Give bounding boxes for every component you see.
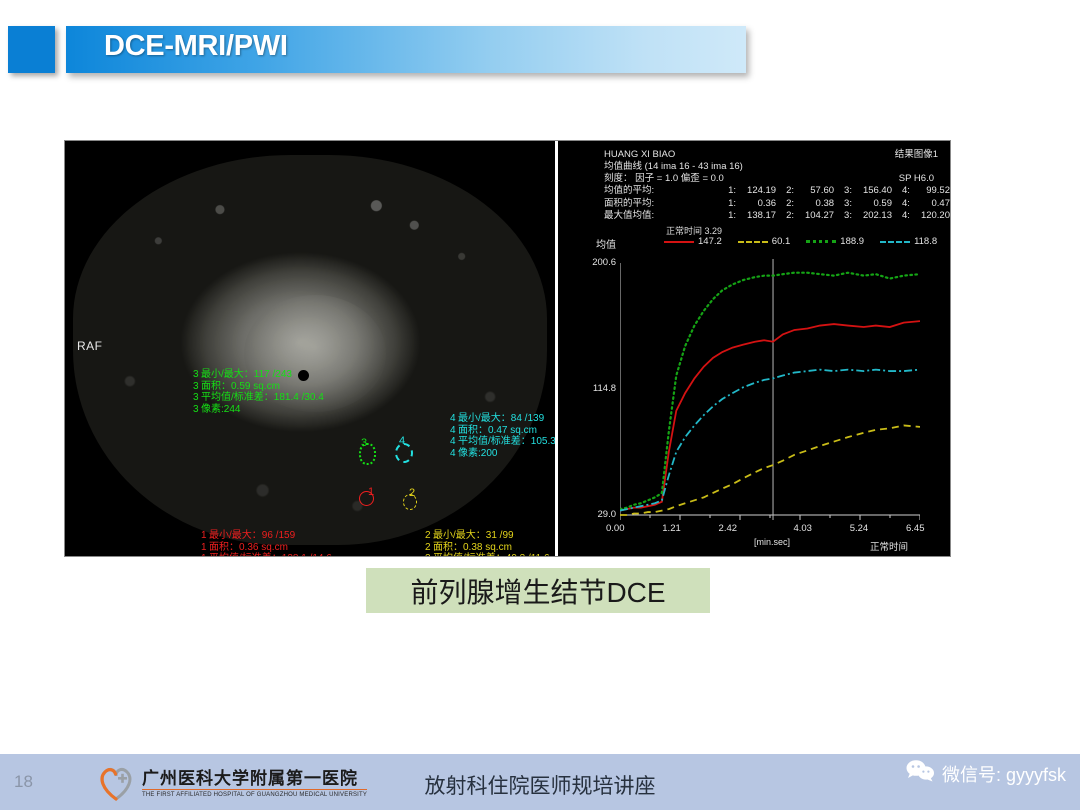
roi-stats-2-minmax: 31 /99 (486, 530, 514, 541)
row-label-mean-of-areas: 面积的平均: (604, 198, 718, 211)
row1-key-1: 1: (718, 198, 736, 211)
roi-stats-3-idx-c: 3 (193, 392, 201, 404)
roi-marker-4: 4 (399, 435, 405, 447)
row1-key-2: 2: (776, 198, 794, 211)
roi-stats-4-pixel-label: 像素: (458, 448, 481, 459)
patient-name: HUANG XI BIAO (604, 149, 675, 161)
roi-stats-1-idx-c: 1 (201, 553, 209, 556)
legend-swatch-red (664, 241, 694, 243)
roi-stats-3-area: 0.59 sq.cm (231, 381, 280, 392)
roi-stats-4: 4最小/最大：84 /139 4面积：0.47 sq.cm 4平均值/标准差：1… (450, 413, 555, 459)
roi-stats-4-minmax: 84 /139 (511, 413, 544, 424)
wechat-id: 微信号: gyyyfsk (942, 761, 1066, 787)
roi-outline-3 (359, 443, 376, 465)
roi-stats-4-idx-a: 4 (450, 413, 458, 425)
curve-svg (620, 259, 920, 525)
row1-key-3: 3: (834, 198, 852, 211)
roi-stats-2-mean-label: 平均值/标准差： (433, 553, 506, 556)
orientation-label: RAF (77, 339, 103, 353)
wechat-info: 微信号: gyyyfsk (905, 758, 1066, 789)
row-label-mean-of-means: 均值的平均: (604, 185, 718, 198)
roi-stats-1-idx-b: 1 (201, 542, 209, 554)
x-tick-1: 1.21 (662, 523, 681, 534)
roi-stats-3: 3最小/最大：117 /243 3面积：0.59 sq.cm 3平均值/标准差：… (193, 369, 324, 415)
row2-val-1: 138.17 (736, 210, 776, 223)
roi-stats-3-minmax: 117 /243 (254, 369, 292, 380)
roi-stats-3-area-label: 面积： (201, 381, 231, 392)
roi-stats-2-idx-a: 2 (425, 530, 433, 542)
roi-marker-2: 2 (409, 487, 415, 499)
roi-stats-2-area-label: 面积： (433, 542, 463, 553)
roi-stats-3-mean-label: 平均值/标准差： (201, 392, 274, 403)
roi-stats-1: 1最小/最大：96 /159 1面积：0.36 sq.cm 1平均值/标准差：1… (201, 530, 332, 556)
roi-stats-3-pixel: 244 (224, 404, 241, 415)
table-row: 最大值均值: 1: 138.17 2: 104.27 3: 202.13 4: … (604, 210, 950, 223)
row0-key-2: 2: (776, 185, 794, 198)
roi-stats-4-idx-c: 4 (450, 436, 458, 448)
row2-key-4: 4: (892, 210, 910, 223)
roi-stats-1-minmax: 96 /159 (262, 530, 295, 541)
roi-stats-4-idx-d: 4 (450, 448, 458, 460)
table-row: 均值的平均: 1: 124.19 2: 57.60 3: 156.40 4: 9… (604, 185, 950, 198)
row1-val-4: 0.47 (910, 198, 950, 211)
roi-stats-2-area: 0.38 sq.cm (463, 542, 512, 553)
footer-bar: 18 广州医科大学附属第一医院 THE FIRST AFFILIATED HOS… (0, 752, 1080, 810)
row0-val-3: 156.40 (852, 185, 892, 198)
roi-stats-4-pixel: 200 (481, 448, 498, 459)
legend-label-2: 60.1 (772, 236, 791, 247)
roi-stats-2: 2最小/最大：31 /99 2面积：0.38 sq.cm 2平均值/标准差：49… (425, 530, 550, 556)
y-tick-0: 200.6 (580, 257, 616, 268)
scale-factors: 刻度： 因子 = 1.0 偏歪 = 0.0 (604, 173, 724, 185)
legend-item-4: 118.8 (880, 236, 937, 247)
statistics-table: 均值的平均: 1: 124.19 2: 57.60 3: 156.40 4: 9… (604, 185, 950, 223)
row0-key-3: 3: (834, 185, 852, 198)
legend-swatch-cyan (880, 241, 910, 243)
chart-legend: 147.2 60.1 188.9 118.8 (664, 236, 937, 247)
roi-stats-1-idx-a: 1 (201, 530, 209, 542)
y-axis-label: 均值 (596, 236, 616, 251)
roi-marker-1: 1 (368, 486, 374, 498)
figure-caption: 前列腺增生结节DCE (366, 568, 710, 613)
roi-stats-2-idx-b: 2 (425, 542, 433, 554)
roi-stats-1-minmax-label: 最小/最大： (209, 530, 262, 541)
figure-dce-mri: RAF 3 4 1 2 3最小/最大：117 /243 3面积：0.59 (64, 140, 951, 557)
roi-stats-2-idx-c: 2 (425, 553, 433, 556)
legend-item-3: 188.9 (806, 236, 864, 247)
legend-swatch-green (806, 240, 836, 243)
row0-val-1: 124.19 (736, 185, 776, 198)
row2-key-1: 1: (718, 210, 736, 223)
y-tick-2: 29.0 (580, 509, 616, 520)
x-tick-4: 5.24 (850, 523, 869, 534)
curve-plot-area (620, 259, 920, 525)
roi-stats-1-mean-label: 平均值/标准差： (209, 553, 282, 556)
row1-key-4: 4: (892, 198, 910, 211)
sp-label: SP H6.0 (899, 173, 934, 185)
row-label-max-mean: 最大值均值: (604, 210, 718, 223)
row0-key-4: 4: (892, 185, 910, 198)
roi-outline-1 (359, 491, 374, 506)
result-image-label: 结果图像1 (895, 149, 938, 161)
roi-stats-2-minmax-label: 最小/最大： (433, 530, 486, 541)
row1-val-2: 0.38 (794, 198, 834, 211)
mri-anatomy (73, 155, 547, 545)
roi-stats-3-mean: 181.4 /30.4 (274, 392, 324, 403)
row2-val-3: 202.13 (852, 210, 892, 223)
legend-label-1: 147.2 (698, 236, 722, 247)
roi-outline-4 (395, 443, 413, 463)
x-tick-5: 6.45 (906, 523, 925, 534)
roi-stats-1-mean: 138.1 /14.6 (282, 553, 332, 556)
legend-item-1: 147.2 (664, 236, 722, 247)
page-title: DCE-MRI/PWI (104, 30, 288, 63)
roi-stats-4-mean-label: 平均值/标准差： (458, 436, 531, 447)
legend-item-2: 60.1 (738, 236, 791, 247)
roi-stats-3-idx-a: 3 (193, 369, 201, 381)
roi-stats-1-area: 0.36 sq.cm (239, 542, 288, 553)
row2-val-4: 120.20 (910, 210, 950, 223)
x-axis-unit-label: [min.sec] (754, 537, 790, 547)
roi-marker-3: 3 (361, 437, 367, 449)
x-tick-0: 0.00 (606, 523, 625, 534)
roi-outline-2 (403, 494, 417, 510)
dce-curve-panel: HUANG XI BIAO 结果图像1 均值曲线 (14 ima 16 - 43… (558, 141, 950, 556)
row0-val-4: 99.52 (910, 185, 950, 198)
roi-stats-4-minmax-label: 最小/最大： (458, 413, 511, 424)
row2-key-2: 2: (776, 210, 794, 223)
row2-val-2: 104.27 (794, 210, 834, 223)
curve-title: 均值曲线 (14 ima 16 - 43 ima 16) (604, 161, 743, 173)
legend-swatch-yellow (738, 241, 768, 243)
x-tick-3: 4.03 (793, 523, 812, 534)
x-tick-2: 2.42 (719, 523, 738, 534)
roi-stats-3-idx-b: 3 (193, 381, 201, 393)
legend-label-3: 188.9 (840, 236, 864, 247)
row2-key-3: 3: (834, 210, 852, 223)
roi-stats-4-area: 0.47 sq.cm (488, 425, 537, 436)
roi-stats-4-mean: 105.3 /11.2 (531, 436, 555, 447)
row1-val-1: 0.36 (736, 198, 776, 211)
y-tick-1: 114.8 (580, 383, 616, 394)
table-row: 面积的平均: 1: 0.36 2: 0.38 3: 0.59 4: 0.47 (604, 198, 950, 211)
roi-stats-3-idx-d: 3 (193, 404, 201, 416)
slide: DCE-MRI/PWI RAF 3 4 1 (0, 0, 1080, 810)
roi-stats-3-pixel-label: 像素: (201, 404, 224, 415)
row0-val-2: 57.60 (794, 185, 834, 198)
row1-val-3: 0.59 (852, 198, 892, 211)
roi-stats-1-area-label: 面积： (209, 542, 239, 553)
roi-stats-4-area-label: 面积： (458, 425, 488, 436)
roi-stats-4-idx-b: 4 (450, 425, 458, 437)
wechat-icon (905, 758, 935, 789)
roi-stats-2-mean: 49.3 /11.6 (506, 553, 550, 556)
roi-stats-3-minmax-label: 最小/最大： (201, 369, 254, 380)
legend-label-4: 118.8 (914, 236, 937, 247)
row0-key-1: 1: (718, 185, 736, 198)
x-axis-normal-time-label: 正常时间 (870, 539, 908, 553)
header-accent-square (8, 26, 55, 73)
mri-image-panel: RAF 3 4 1 2 3最小/最大：117 /243 3面积：0.59 (65, 141, 555, 556)
